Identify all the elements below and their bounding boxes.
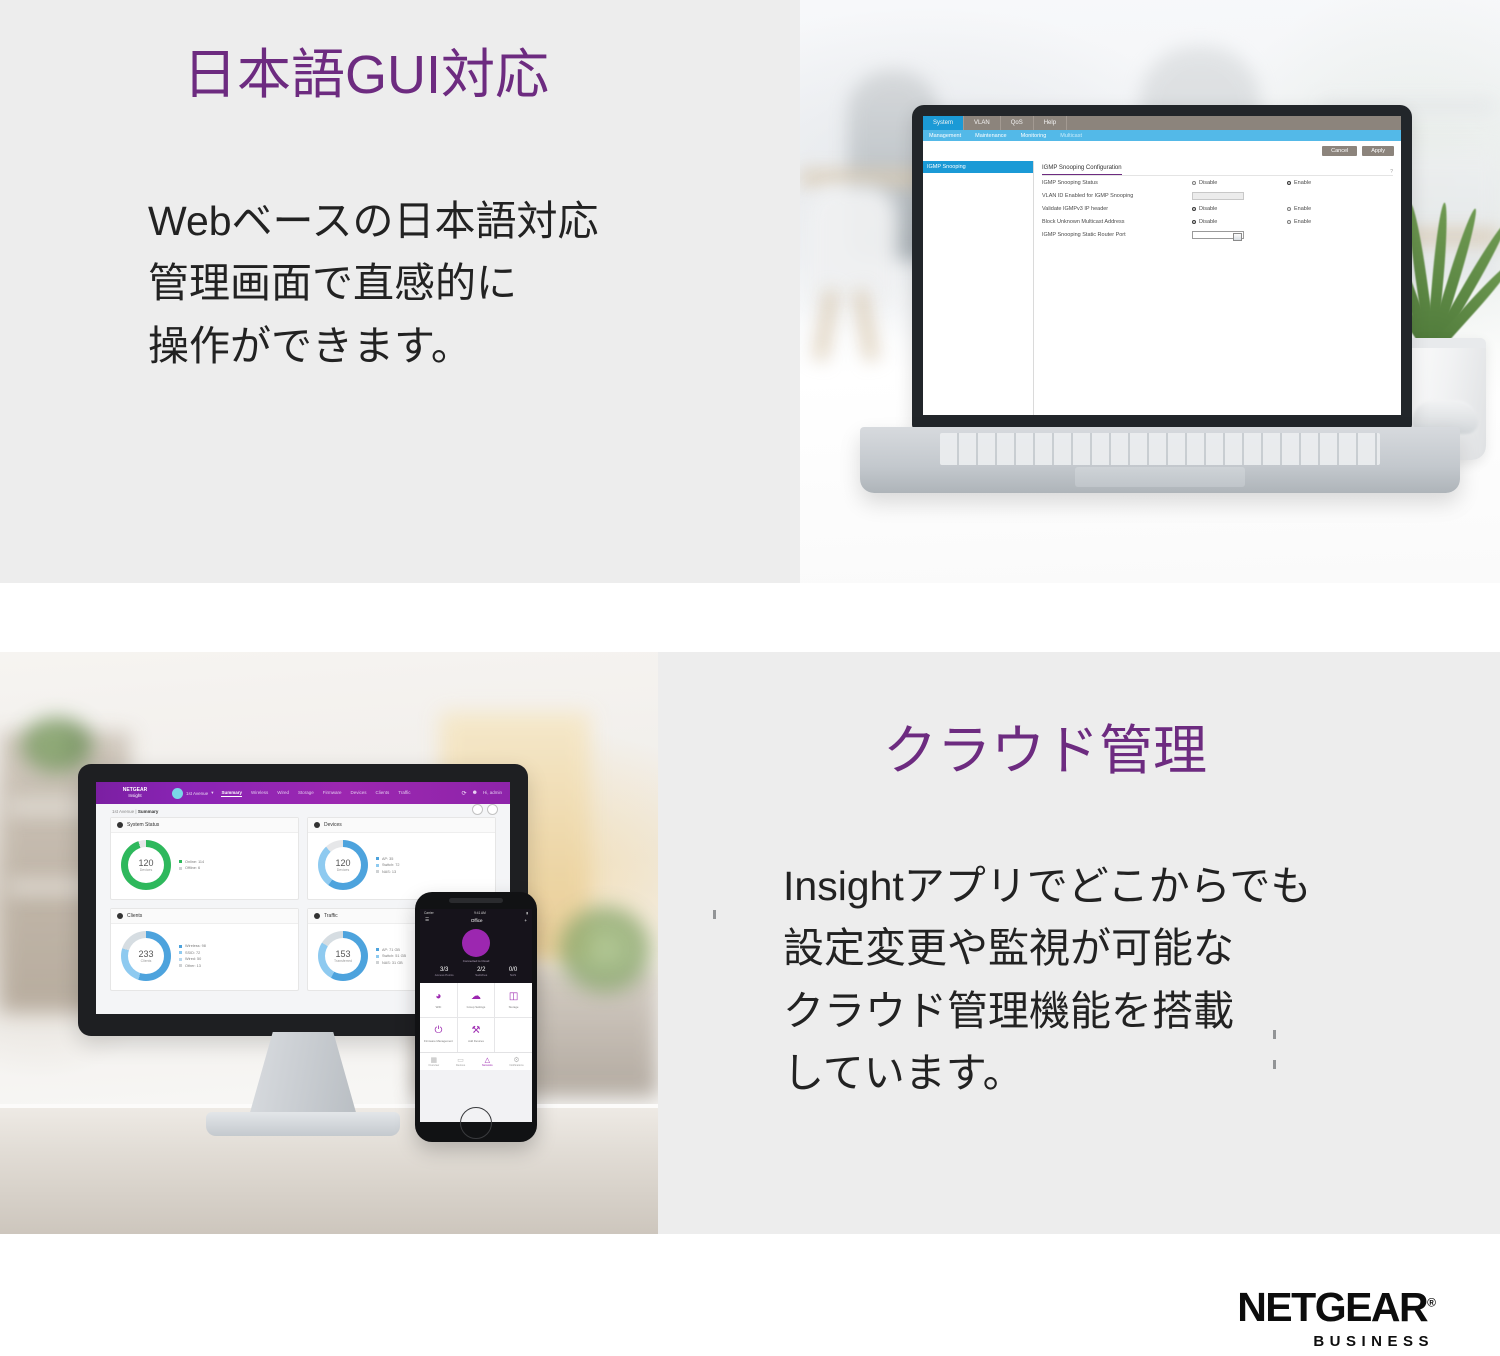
donut-value: 233 xyxy=(138,950,153,959)
donut-unit: Devices xyxy=(140,868,152,872)
legend-item: Switch: 51 GB xyxy=(376,954,406,958)
cancel-button[interactable]: Cancel xyxy=(1322,146,1357,156)
donut-value: 120 xyxy=(335,859,350,868)
section1-body-line-2: 管理画面で直感的に xyxy=(148,252,599,314)
card-system-status: System Status 120 Devices xyxy=(110,817,299,900)
laptop-trackpad xyxy=(1075,467,1245,487)
section2-photo-desk-monitor-phone: NETGEAR Insight 1st Avenue ▾ Summary Wir… xyxy=(0,652,658,1234)
switch-ui-subtabbar: Management Maintenance Monitoring Multic… xyxy=(923,130,1401,141)
card-header: Clients xyxy=(111,909,298,924)
user-icon[interactable]: ☻ xyxy=(472,790,478,796)
speck-artifact-3 xyxy=(1273,1060,1276,1069)
monitor-stand-foot xyxy=(206,1112,400,1136)
tab-devices[interactable]: ▭Devices xyxy=(456,1056,465,1067)
section1-body-line-1: Webベースの日本語対応 xyxy=(148,190,599,252)
card-body: 120 Devices AP: 35 Switch: 72 NAS: 13 xyxy=(308,833,495,899)
donut-chart: 233 Clients xyxy=(121,931,171,981)
stat-switches: 2/2 Switches xyxy=(475,967,487,977)
switch-tab-vlan[interactable]: VLAN xyxy=(964,116,1001,130)
section2-heading: クラウド管理 xyxy=(883,720,1207,784)
switch-subtab-monitoring[interactable]: Monitoring xyxy=(1021,133,1047,139)
tile-add-devices[interactable]: ⚒ Add Devices xyxy=(458,1018,495,1052)
card-title: Devices xyxy=(324,822,342,828)
speck-artifact xyxy=(713,910,716,919)
cloud-status-badge xyxy=(462,929,490,957)
tile-label: Group Settings xyxy=(467,1005,486,1009)
tile-firmware-management[interactable]: ⏻ Firmware Management xyxy=(420,1018,457,1052)
footer: NETGEAR® BUSINESS xyxy=(0,1234,1500,1356)
legend-item: AP: 35 xyxy=(376,857,400,861)
breadcrumb-current: Summary xyxy=(138,809,159,814)
donut-center: 233 Clients xyxy=(128,938,164,974)
logo-tagline: BUSINESS xyxy=(1237,1333,1436,1350)
card-title: Clients xyxy=(127,913,142,919)
card-header: Devices xyxy=(308,818,495,833)
breadcrumb: 1st Avenue | Summary xyxy=(96,804,510,817)
avatar xyxy=(172,788,183,799)
wifi-icon: ◕ xyxy=(435,992,441,1002)
nav-item-devices[interactable]: Devices xyxy=(351,790,367,796)
card-body: 233 Clients Wireless: 98 SSID: 72 Wired:… xyxy=(111,924,298,990)
donut-center: 120 Devices xyxy=(325,847,361,883)
switch-subtab-maintenance[interactable]: Maintenance xyxy=(975,133,1007,139)
donut-value: 120 xyxy=(138,859,153,868)
radio-icon-selected[interactable] xyxy=(1192,207,1196,211)
card-legend: AP: 71 GB Switch: 51 GB NAS: 31 GB xyxy=(376,948,406,965)
radio-label: Enable xyxy=(1294,180,1311,186)
battery-icon: ▮ xyxy=(526,911,528,915)
app-header: Carrier 9:41 AM ▮ ☰ Office + Connected t… xyxy=(420,909,532,983)
switch-ui-main: IGMP Snooping IGMP Snooping Configuratio… xyxy=(923,161,1401,415)
netgear-business-logo: NETGEAR® BUSINESS xyxy=(1237,1284,1436,1350)
account-name: 1st Avenue xyxy=(186,791,208,796)
panel-title-row: IGMP Snooping Configuration ? xyxy=(1042,165,1393,176)
legend-item: NAS: 31 GB xyxy=(376,961,406,965)
card-legend: AP: 35 Switch: 72 NAS: 13 xyxy=(376,857,400,874)
form-row-vlan-id: VLAN ID Enabled for IGMP Snooping xyxy=(1042,189,1393,202)
app-stats: 3/3 Access Points 2/2 Switches 0/0 NAS xyxy=(424,963,528,977)
gear-icon: ⚙ xyxy=(509,1056,523,1064)
tile-wifi[interactable]: ◕ WiFi xyxy=(420,983,457,1017)
collapse-widget-icon[interactable] xyxy=(487,804,498,815)
switch-subtab-management[interactable]: Management xyxy=(929,133,961,139)
panel-title: IGMP Snooping Configuration xyxy=(1042,165,1122,175)
radio-icon[interactable] xyxy=(1192,181,1196,185)
apply-button[interactable]: Apply xyxy=(1362,146,1394,156)
help-icon[interactable]: ? xyxy=(1390,169,1393,175)
switch-ui-sidebar: IGMP Snooping xyxy=(923,161,1033,415)
insight-mobile-app: Carrier 9:41 AM ▮ ☰ Office + Connected t… xyxy=(420,909,532,1122)
card-body: 120 Devices Online: 114 Offline: 6 xyxy=(111,833,298,899)
switch-ui-tabbar: System VLAN QoS Help xyxy=(923,116,1401,130)
radio-enable[interactable]: Enable xyxy=(1287,180,1382,186)
legend-item: Offline: 6 xyxy=(179,866,204,870)
phone-body: Carrier 9:41 AM ▮ ☰ Office + Connected t… xyxy=(415,892,537,1142)
section2-body-line-1: Insightアプリでどこからでも xyxy=(783,855,1311,917)
radio-icon[interactable] xyxy=(1287,207,1291,211)
donut-unit: Devices xyxy=(337,868,349,872)
donut-chart: 153 Transferred xyxy=(318,931,368,981)
smartphone: Carrier 9:41 AM ▮ ☰ Office + Connected t… xyxy=(415,892,537,1142)
form-label: Validate IGMPv3 IP header xyxy=(1042,206,1192,212)
section-japanese-gui: 日本語GUI対応 Webベースの日本語対応 管理画面で直感的に 操作ができます。 xyxy=(0,0,1500,583)
tile-label: Storage xyxy=(509,1005,519,1009)
section1-body-line-3: 操作ができます。 xyxy=(148,315,599,377)
radio-label: Disable xyxy=(1199,180,1217,186)
section2-body-line-3: クラウド管理機能を搭載 xyxy=(783,980,1311,1042)
radio-icon-selected[interactable] xyxy=(1192,220,1196,224)
gear-icon xyxy=(117,822,123,828)
carrier-label: Carrier xyxy=(424,911,434,915)
section2-body-line-4: しています。 xyxy=(783,1042,1311,1104)
nav-item-storage[interactable]: Storage xyxy=(298,790,314,796)
chevron-down-icon[interactable]: ▾ xyxy=(211,790,213,796)
grid-icon: ▦ xyxy=(428,1056,439,1064)
account-switcher[interactable]: 1st Avenue ▾ xyxy=(172,788,213,799)
card-legend: Wireless: 98 SSID: 72 Wired: 50 Other: 1… xyxy=(179,944,206,968)
gear-icon xyxy=(314,913,320,919)
cloud-up-icon: △ xyxy=(482,1056,493,1064)
tile-label: WiFi xyxy=(436,1005,442,1009)
card-header: System Status xyxy=(111,818,298,833)
form-row-block-unknown: Block Unknown Multicast Address Disable … xyxy=(1042,215,1393,228)
nav-item-clients[interactable]: Clients xyxy=(376,790,390,796)
phone-home-button[interactable] xyxy=(460,1107,492,1139)
card-legend: Online: 114 Offline: 6 xyxy=(179,860,204,871)
card-title: System Status xyxy=(127,822,159,828)
section2-text-pane: クラウド管理 Insightアプリでどこからでも 設定変更や監視が可能な クラウ… xyxy=(658,652,1500,1234)
app-title-row: ☰ Office + xyxy=(424,915,528,925)
form-label: Block Unknown Multicast Address xyxy=(1042,219,1192,225)
section1-body: Webベースの日本語対応 管理画面で直感的に 操作ができます。 xyxy=(148,190,599,377)
logo-wordmark: NETGEAR® xyxy=(1237,1284,1436,1331)
cloud-icon: ☁ xyxy=(471,992,481,1002)
sidebar-item-igmp-snooping[interactable]: IGMP Snooping xyxy=(923,161,1033,173)
tile-empty xyxy=(495,1018,532,1052)
radio-disable[interactable]: Disable xyxy=(1192,219,1287,225)
registered-mark: ® xyxy=(1427,1295,1436,1309)
stat-label: Switches xyxy=(475,973,487,977)
legend-item: Wired: 50 xyxy=(179,957,206,961)
static-router-port-select-wrap[interactable] xyxy=(1192,231,1287,239)
legend-item: Online: 114 xyxy=(179,860,204,864)
legend-item: AP: 71 GB xyxy=(376,948,406,952)
form-label: VLAN ID Enabled for IGMP Snooping xyxy=(1042,193,1192,199)
legend-item: NAS: 13 xyxy=(376,870,400,874)
plus-icon[interactable]: + xyxy=(524,918,527,923)
form-row-static-router-port: IGMP Snooping Static Router Port xyxy=(1042,228,1393,241)
vlan-id-input[interactable] xyxy=(1192,192,1244,200)
radio-disable[interactable]: Disable xyxy=(1192,206,1287,212)
laptop: System VLAN QoS Help Management Maintena… xyxy=(860,105,1460,525)
gear-icon xyxy=(314,822,320,828)
radio-icon[interactable] xyxy=(1287,220,1291,224)
form-row-igmp-status: IGMP Snooping Status Disable Enable xyxy=(1042,176,1393,189)
donut-center: 120 Devices xyxy=(128,847,164,883)
app-tile-grid: ◕ WiFi ☁ Group Settings ◫ Storage xyxy=(420,983,532,1052)
tile-label: Firmware Management xyxy=(424,1039,453,1043)
section-cloud-management: NETGEAR Insight 1st Avenue ▾ Summary Wir… xyxy=(0,652,1500,1234)
switch-tab-qos[interactable]: QoS xyxy=(1001,116,1034,130)
nav-item-summary[interactable]: Summary xyxy=(221,790,242,797)
gear-icon xyxy=(117,913,123,919)
monitor-icon: ▭ xyxy=(456,1056,465,1064)
switch-web-ui: System VLAN QoS Help Management Maintena… xyxy=(923,116,1401,415)
stat-access-points: 3/3 Access Points xyxy=(435,967,454,977)
wrench-icon: ⚒ xyxy=(472,1026,481,1036)
nav-item-traffic[interactable]: Traffic xyxy=(398,790,410,796)
hamburger-icon[interactable]: ☰ xyxy=(425,917,429,923)
tab-overview[interactable]: ▦Overview xyxy=(428,1056,439,1067)
logo-insight: Insight xyxy=(104,793,166,798)
radio-enable[interactable]: Enable xyxy=(1287,219,1382,225)
nav-item-wired[interactable]: Wired xyxy=(277,790,289,796)
refresh-icon[interactable]: ⟳ xyxy=(462,790,467,797)
form-row-validate-header: Validate IGMPv3 IP header Disable Enable xyxy=(1042,202,1393,215)
donut-chart: 120 Devices xyxy=(318,840,368,890)
switch-subtab-multicast[interactable]: Multicast xyxy=(1060,133,1082,139)
logo-netgear: NETGEAR xyxy=(123,787,147,793)
switch-tab-system[interactable]: System xyxy=(923,116,964,130)
legend-item: SSID: 72 xyxy=(179,951,206,955)
section1-text-pane: 日本語GUI対応 Webベースの日本語対応 管理画面で直感的に 操作ができます。 xyxy=(0,0,800,583)
legend-item: Wireless: 98 xyxy=(179,944,206,948)
stat-label: NAS xyxy=(509,973,517,977)
switch-ui-content: IGMP Snooping Configuration ? IGMP Snoop… xyxy=(1033,161,1401,415)
donut-unit: Transferred xyxy=(334,959,352,963)
radio-icon-selected[interactable] xyxy=(1287,181,1291,185)
donut-center: 153 Transferred xyxy=(325,938,361,974)
user-label[interactable]: Hi, admin xyxy=(483,790,502,796)
switch-tab-help[interactable]: Help xyxy=(1034,116,1067,130)
nav-item-wireless[interactable]: Wireless xyxy=(251,790,268,796)
monitor-stand-neck xyxy=(249,1032,357,1116)
section1-photo-laptop-office: System VLAN QoS Help Management Maintena… xyxy=(800,0,1500,583)
card-title: Traffic xyxy=(324,913,338,919)
form-label: IGMP Snooping Status xyxy=(1042,180,1192,186)
switch-ui-action-bar: Cancel Apply xyxy=(923,141,1401,161)
promo-page: 日本語GUI対応 Webベースの日本語対応 管理画面で直感的に 操作ができます。 xyxy=(0,0,1500,1356)
dashboard-controls xyxy=(472,804,498,815)
tab-networks[interactable]: △Networks xyxy=(482,1056,493,1067)
speck-artifact-2 xyxy=(1273,1030,1276,1039)
section1-heading: 日本語GUI対応 xyxy=(183,44,549,108)
section2-body: Insightアプリでどこからでも 設定変更や監視が可能な クラウド管理機能を搭… xyxy=(783,855,1311,1104)
storage-icon: ◫ xyxy=(509,992,518,1002)
tab-notifications[interactable]: ⚙Notifications xyxy=(509,1056,523,1067)
stat-nas: 0/0 NAS xyxy=(509,967,517,977)
laptop-lid: System VLAN QoS Help Management Maintena… xyxy=(912,105,1412,429)
form-label: IGMP Snooping Static Router Port xyxy=(1042,232,1192,238)
radio-label: Enable xyxy=(1294,219,1311,225)
netgear-insight-logo: NETGEAR Insight xyxy=(104,788,166,799)
legend-item: Other: 13 xyxy=(179,964,206,968)
blurred-plant-2 xyxy=(560,907,650,992)
tile-storage[interactable]: ◫ Storage xyxy=(495,983,532,1017)
insight-navbar: NETGEAR Insight 1st Avenue ▾ Summary Wir… xyxy=(96,782,510,804)
static-router-port-select[interactable] xyxy=(1192,231,1244,239)
add-widget-icon[interactable] xyxy=(472,804,483,815)
phone-speaker xyxy=(449,898,503,903)
card-clients: Clients 233 Clients xyxy=(110,908,299,991)
section2-body-line-2: 設定変更や監視が可能な xyxy=(783,917,1311,979)
donut-unit: Clients xyxy=(141,959,152,963)
tile-label: Add Devices xyxy=(468,1039,484,1043)
legend-item: Switch: 72 xyxy=(376,863,400,867)
radio-enable[interactable]: Enable xyxy=(1287,206,1382,212)
radio-label: Disable xyxy=(1199,206,1217,212)
nav-item-firmware[interactable]: Firmware xyxy=(323,790,342,796)
tile-group-settings[interactable]: ☁ Group Settings xyxy=(458,983,495,1017)
insight-nav-items: Summary Wireless Wired Storage Firmware … xyxy=(221,790,410,797)
card-devices: Devices 120 Devices xyxy=(307,817,496,900)
stat-label: Access Points xyxy=(435,973,454,977)
insight-nav-right: ⟳ ☻ Hi, admin xyxy=(462,790,510,797)
radio-label: Disable xyxy=(1199,219,1217,225)
donut-value: 153 xyxy=(335,950,350,959)
clock: 9:41 AM xyxy=(474,911,486,915)
breadcrumb-prefix[interactable]: 1st Avenue | xyxy=(112,809,137,814)
donut-chart: 120 Devices xyxy=(121,840,171,890)
location-title[interactable]: Office xyxy=(471,918,483,923)
power-icon: ⏻ xyxy=(434,1026,442,1036)
app-tabbar: ▦Overview ▭Devices △Networks ⚙Notificati… xyxy=(420,1052,532,1070)
radio-disable[interactable]: Disable xyxy=(1192,180,1287,186)
radio-label: Enable xyxy=(1294,206,1311,212)
vlan-id-input-wrap[interactable] xyxy=(1192,192,1287,200)
laptop-base xyxy=(860,427,1460,493)
laptop-keyboard xyxy=(940,433,1380,465)
